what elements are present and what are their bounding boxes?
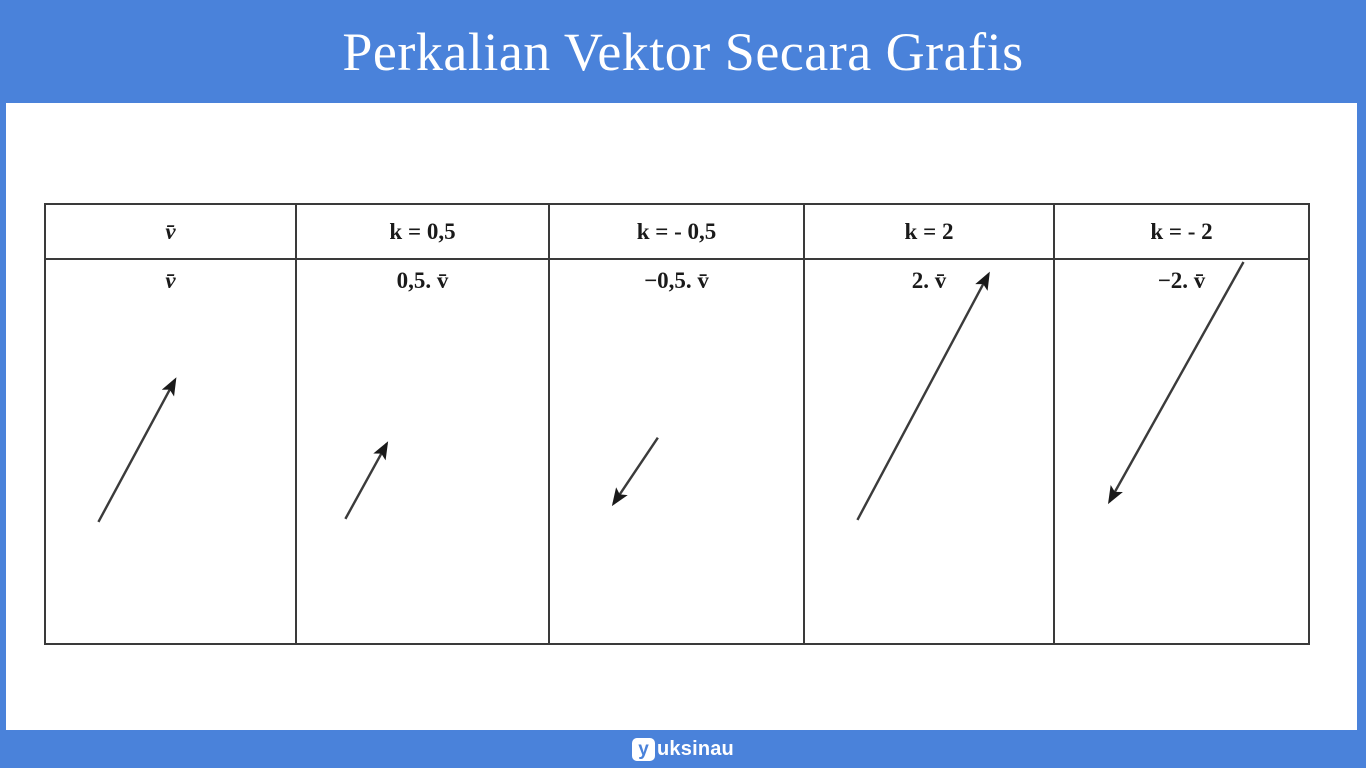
table-header-cell-3: k = - 0,5 xyxy=(549,204,804,259)
content-sheet: v̄ k = 0,5 k = - 0,5 k = 2 k = - 2 xyxy=(6,103,1357,730)
table-cell-half-vector: 0,5. v̄ xyxy=(296,259,549,644)
header-label-k-half: k = 0,5 xyxy=(389,219,455,244)
cell-label-neg-double-v: −2. v̄ xyxy=(1055,260,1308,293)
yuksinau-logo[interactable]: y uksinau xyxy=(632,736,734,762)
vector-arrow-neg-double-svg xyxy=(1055,260,1308,643)
table-header-cell-5: k = - 2 xyxy=(1054,204,1309,259)
table-header-cell-4: k = 2 xyxy=(804,204,1054,259)
vector-arrow-base xyxy=(46,260,295,643)
logo-badge-y: y xyxy=(632,738,655,761)
vector-arrow-half-svg xyxy=(297,260,548,643)
header-label-k-neg-half: k = - 0,5 xyxy=(637,219,717,244)
table-cell-neg-half-vector: −0,5. v̄ xyxy=(549,259,804,644)
vector-arrow-neg-half-svg xyxy=(550,260,803,643)
vector-arrow-double-svg xyxy=(805,260,1053,643)
table-header-cell-1: v̄ xyxy=(45,204,296,259)
table-body-row: v̄ xyxy=(45,259,1309,644)
slide-root: Perkalian Vektor Secara Grafis v̄ k = 0,… xyxy=(0,0,1366,768)
cell-label-half-v: 0,5. v̄ xyxy=(297,260,548,293)
cell-label-neg-half-v: −0,5. v̄ xyxy=(550,260,803,293)
cell-label-double-v: 2. v̄ xyxy=(805,260,1053,293)
title-band: Perkalian Vektor Secara Grafis xyxy=(0,0,1366,103)
vector-arrow-neg-half xyxy=(550,260,803,643)
table-cell-base-vector: v̄ xyxy=(45,259,296,644)
page-title: Perkalian Vektor Secara Grafis xyxy=(342,25,1023,79)
table-header-row: v̄ k = 0,5 k = - 0,5 k = 2 k = - 2 xyxy=(45,204,1309,259)
vector-multiplication-table: v̄ k = 0,5 k = - 0,5 k = 2 k = - 2 xyxy=(44,203,1310,645)
table-cell-neg-double-vector: −2. v̄ xyxy=(1054,259,1309,644)
header-label-v: v̄ xyxy=(165,219,175,244)
table-header-cell-2: k = 0,5 xyxy=(296,204,549,259)
cell-label-v: v̄ xyxy=(46,260,295,293)
vector-arrow-neg-double xyxy=(1055,260,1308,643)
logo-wordmark: uksinau xyxy=(657,738,734,761)
header-label-k-neg-two: k = - 2 xyxy=(1150,219,1212,244)
vector-arrow-double xyxy=(805,260,1053,643)
header-label-k-two: k = 2 xyxy=(905,219,954,244)
vector-arrow-base-svg xyxy=(46,260,295,643)
vector-arrow-half xyxy=(297,260,548,643)
footer-bar: y uksinau xyxy=(0,730,1366,768)
table-cell-double-vector: 2. v̄ xyxy=(804,259,1054,644)
